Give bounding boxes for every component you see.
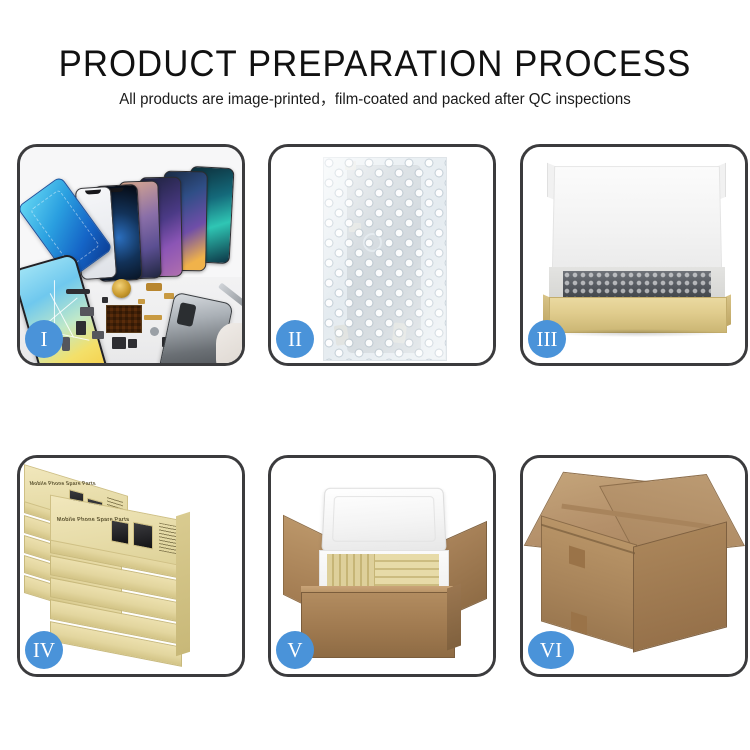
speaker-coil-icon bbox=[112, 279, 131, 298]
carton-front-icon bbox=[301, 592, 455, 658]
step-badge-6: VI bbox=[528, 631, 574, 669]
process-step-1: I bbox=[17, 144, 245, 366]
chip-array-icon bbox=[106, 305, 142, 333]
process-step-2: II bbox=[268, 144, 496, 366]
drop-shadow bbox=[553, 329, 721, 337]
process-step-6: VI bbox=[520, 455, 748, 677]
step-badge-1: I bbox=[25, 320, 63, 358]
step-badge-2: II bbox=[276, 320, 314, 358]
step-badge-3: III bbox=[528, 320, 566, 358]
box-lid-icon bbox=[552, 166, 722, 275]
carton-side-right bbox=[447, 583, 461, 650]
kraft-box-front bbox=[549, 297, 727, 333]
bubble-texture bbox=[324, 158, 446, 360]
step-badge-5: V bbox=[276, 631, 314, 669]
process-step-4: Mobile Phone Spare Parts Mobile Phone Sp… bbox=[17, 455, 245, 677]
stack-side-face bbox=[176, 512, 190, 657]
process-step-grid: I II bbox=[0, 0, 750, 750]
bubble-wrap-bag-icon bbox=[323, 157, 447, 361]
process-step-5: V bbox=[268, 455, 496, 677]
phone-notch-icon bbox=[85, 190, 101, 195]
hand-icon bbox=[216, 323, 242, 363]
foam-lid-icon bbox=[321, 488, 446, 552]
step-badge-4: IV bbox=[25, 631, 63, 669]
process-step-3: III bbox=[520, 144, 748, 366]
box-label-text: Mobile Phone Spare Parts bbox=[29, 481, 97, 487]
